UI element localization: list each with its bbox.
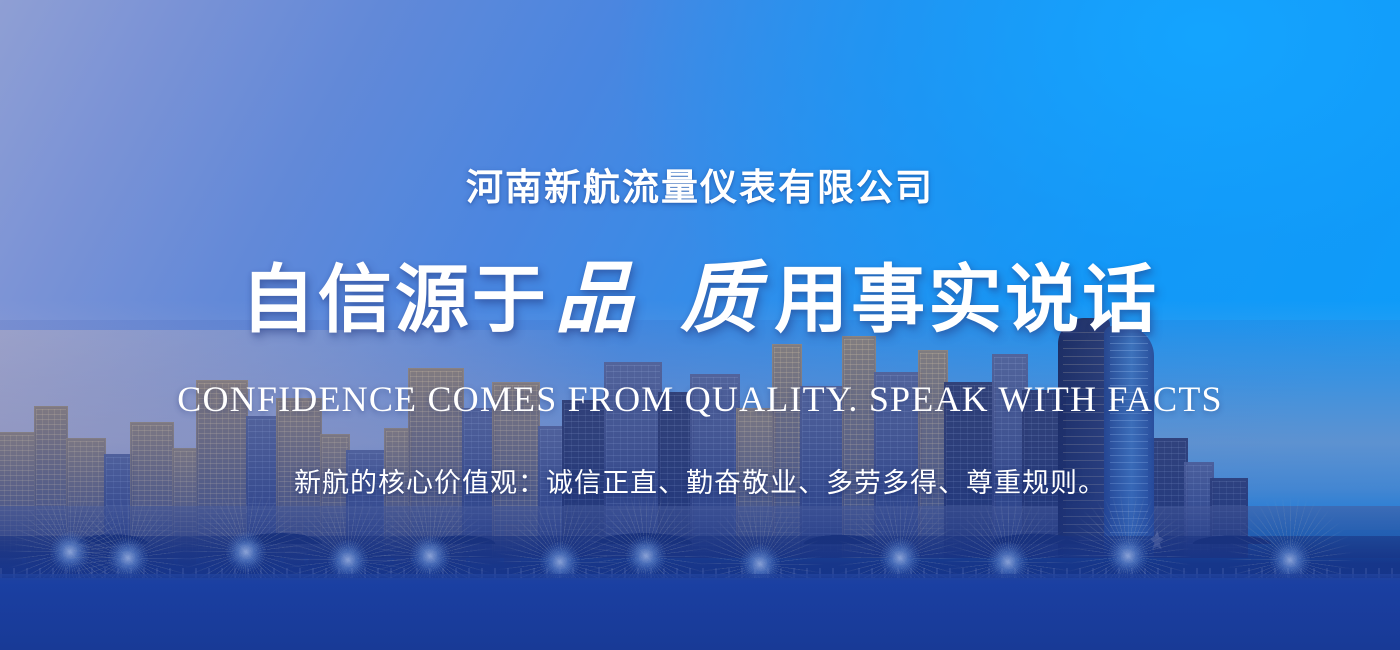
tagline-chinese: 新航的核心价值观：诚信正直、勤奋敬业、多劳多得、尊重规则。 bbox=[0, 461, 1400, 500]
hero-banner: 河南新航流量仪表有限公司 自信源于品 质用事实说话 CONFIDENCE COM… bbox=[0, 0, 1400, 650]
headline-brush-word: 品 质 bbox=[549, 253, 774, 344]
banner-content: 河南新航流量仪表有限公司 自信源于品 质用事实说话 CONFIDENCE COM… bbox=[0, 0, 1400, 650]
subtitle-english: CONFIDENCE COMES FROM QUALITY. SPEAK WIT… bbox=[0, 378, 1400, 420]
company-name: 河南新航流量仪表有限公司 bbox=[0, 157, 1400, 211]
headline-part2: 用事实说话 bbox=[774, 258, 1159, 341]
headline-part1: 自信源于 bbox=[241, 258, 549, 341]
headline: 自信源于品 质用事实说话 bbox=[0, 258, 1400, 340]
